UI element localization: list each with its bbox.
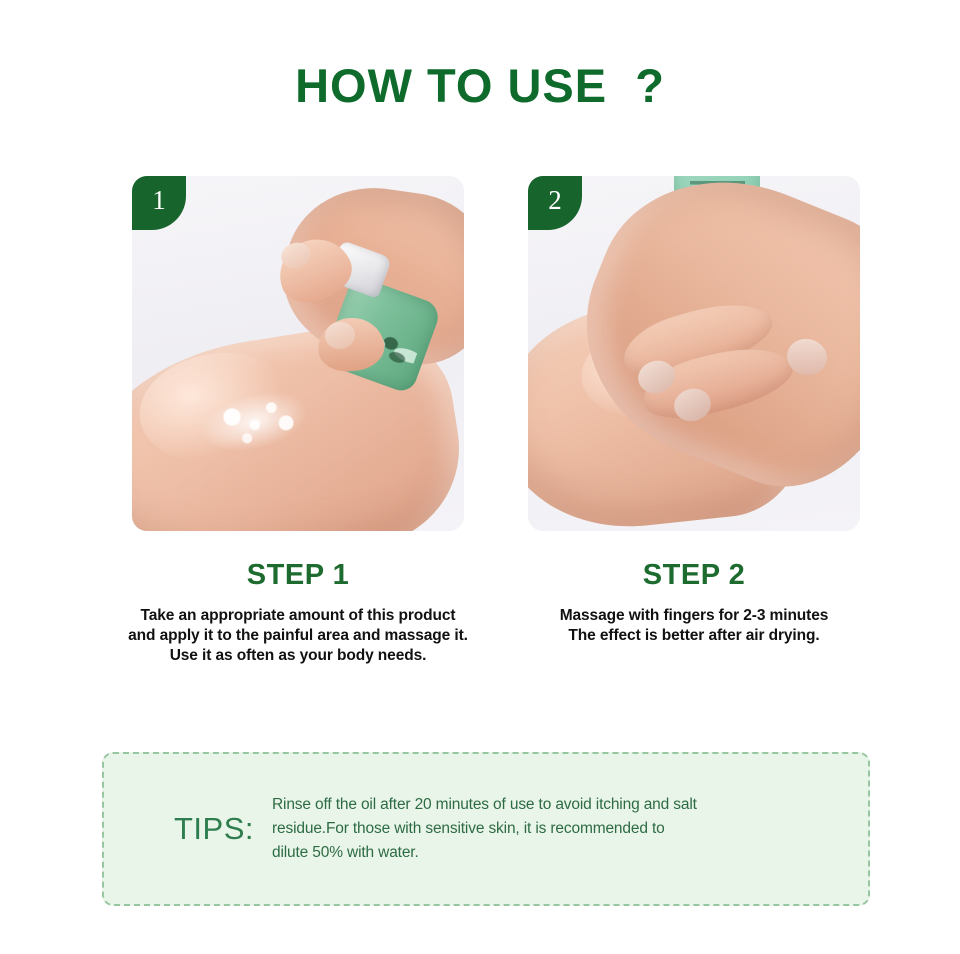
step-1-title: STEP 1 xyxy=(132,559,464,592)
step-2-title: STEP 2 xyxy=(528,559,860,592)
step-2-description: Massage with fingers for 2-3 minutes The… xyxy=(514,606,874,646)
step-card-2: 2 STEP 2 Massage with fingers for 2-3 mi… xyxy=(528,176,860,646)
how-to-use-infographic: HOW TO USE ? xyxy=(0,0,960,954)
step-card-1: 1 STEP 1 Take an appropriate amount of t… xyxy=(132,176,464,665)
tips-text: Rinse off the oil after 20 minutes of us… xyxy=(272,793,868,865)
step-2-photo: 2 xyxy=(528,176,860,531)
tips-label: TIPS: xyxy=(104,811,272,847)
tips-box: TIPS: Rinse off the oil after 20 minutes… xyxy=(102,752,870,906)
step-1-photo: 1 xyxy=(132,176,464,531)
steps-row: 1 STEP 1 Take an appropriate amount of t… xyxy=(0,176,960,706)
massage-scene xyxy=(528,176,860,531)
page-title: HOW TO USE ? xyxy=(0,58,960,113)
step-1-description: Take an appropriate amount of this produ… xyxy=(108,606,488,665)
spray-product-scene xyxy=(132,176,464,531)
